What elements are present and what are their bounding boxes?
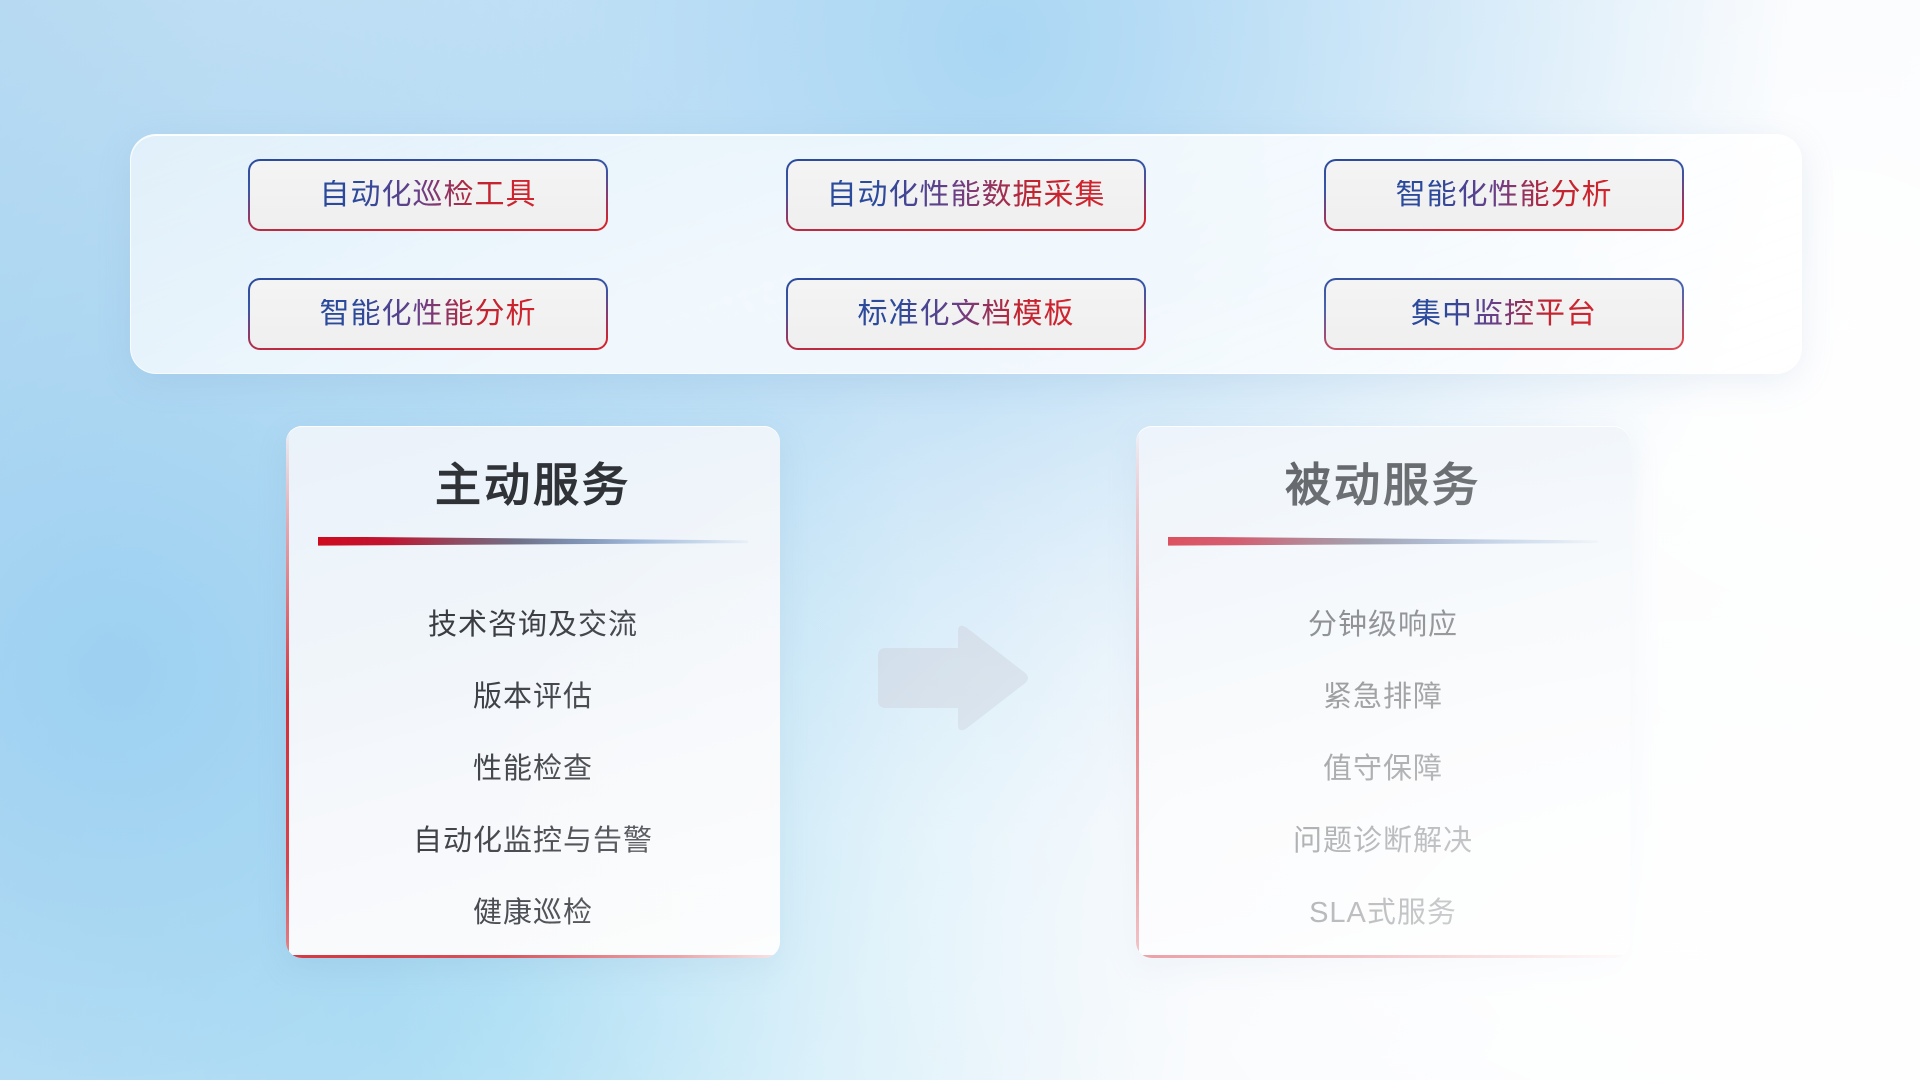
card-divider — [1168, 537, 1598, 546]
list-item: 性能检查 — [473, 734, 593, 806]
list-item: 值守保障 — [1323, 734, 1443, 806]
card-list: 分钟级响应 紧急排障 值守保障 问题诊断解决 SLA式服务 — [1136, 590, 1630, 950]
card-accent-left — [1136, 426, 1139, 958]
capability-pill-label: 标准化文档模板 — [858, 299, 1075, 329]
service-card-proactive: 主动服务 技术咨询及交流 版本评估 性能检查 自动化监控与告警 健康巡检 — [286, 426, 780, 958]
capability-pill-6[interactable]: 集中监控平台 — [1326, 280, 1682, 348]
list-item: 自动化监控与告警 — [413, 806, 653, 878]
list-item: SLA式服务 — [1309, 878, 1457, 950]
capability-pill-3[interactable]: 智能化性能分析 — [1326, 161, 1682, 229]
card-accent-left — [286, 426, 289, 958]
slide-canvas: 自动化巡检工具 自动化性能数据采集 智能化性能分析 智能化性能分析 标准化文档模… — [0, 0, 1920, 1080]
list-item: 问题诊断解决 — [1293, 806, 1473, 878]
capability-pill-1[interactable]: 自动化巡检工具 — [250, 161, 606, 229]
list-item: 分钟级响应 — [1308, 590, 1458, 662]
list-item: 健康巡检 — [473, 878, 593, 950]
list-item: 版本评估 — [473, 662, 593, 734]
list-item: 技术咨询及交流 — [428, 590, 638, 662]
capability-pill-label: 集中监控平台 — [1411, 299, 1597, 329]
capability-pill-label: 自动化性能数据采集 — [827, 180, 1106, 210]
card-accent-bottom — [286, 955, 780, 958]
card-title: 被动服务 — [1136, 460, 1630, 511]
capability-pill-label: 智能化性能分析 — [1396, 180, 1613, 210]
capability-pill-4[interactable]: 智能化性能分析 — [250, 280, 606, 348]
capability-pill-2[interactable]: 自动化性能数据采集 — [788, 161, 1144, 229]
capability-panel: 自动化巡检工具 自动化性能数据采集 智能化性能分析 智能化性能分析 标准化文档模… — [130, 134, 1802, 374]
card-title: 主动服务 — [286, 460, 780, 511]
capability-pill-label: 智能化性能分析 — [320, 299, 537, 329]
card-accent-bottom — [1136, 955, 1630, 958]
capability-pill-5[interactable]: 标准化文档模板 — [788, 280, 1144, 348]
card-divider — [318, 537, 748, 546]
service-card-reactive: 被动服务 分钟级响应 紧急排障 值守保障 问题诊断解决 SLA式服务 — [1136, 426, 1630, 958]
right-arrow-icon — [872, 622, 1032, 734]
capability-pill-label: 自动化巡检工具 — [320, 180, 537, 210]
card-list: 技术咨询及交流 版本评估 性能检查 自动化监控与告警 健康巡检 — [286, 590, 780, 950]
list-item: 紧急排障 — [1323, 662, 1443, 734]
